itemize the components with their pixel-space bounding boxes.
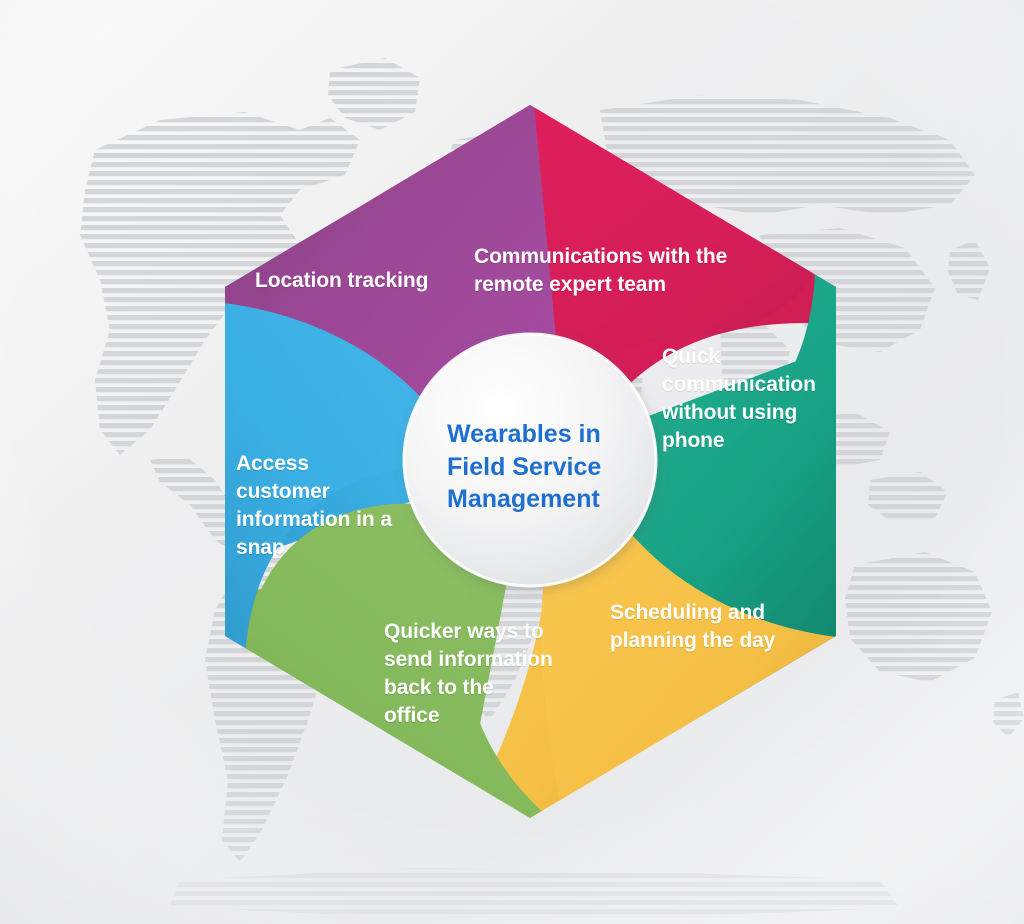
label-quicker-ways: Quicker ways to send information back to… [384, 618, 599, 730]
label-communications: Communications with the remote expert te… [474, 243, 784, 299]
center-title: Wearables in Field Service Management [447, 418, 677, 516]
labels: Location tracking Communications with th… [0, 0, 1024, 924]
infographic-canvas: Location tracking Communications with th… [0, 0, 1024, 924]
label-access-customer: Access customer information in a snap [236, 450, 451, 562]
label-location-tracking: Location tracking [255, 267, 485, 295]
label-quick-communication: Quick communication without using phone [662, 343, 862, 455]
label-scheduling: Scheduling and planning the day [610, 599, 840, 655]
